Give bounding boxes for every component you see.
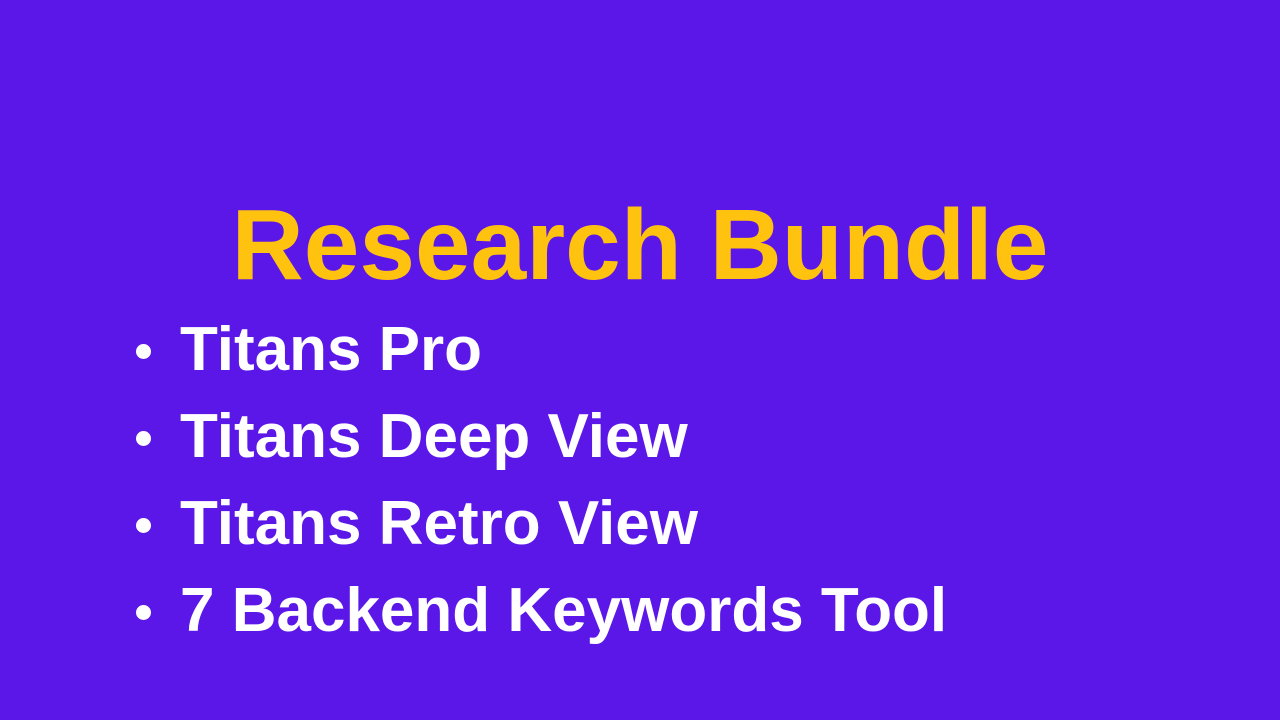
list-item: Titans Pro	[128, 306, 1240, 393]
list-item: Titans Retro View	[128, 480, 1240, 567]
list-item-label: Titans Pro	[180, 319, 482, 381]
page-title: Research Bundle	[0, 195, 1280, 295]
bullet-dot-icon	[136, 605, 151, 620]
bullet-dot-icon	[136, 344, 151, 359]
list-item-label: Titans Retro View	[180, 493, 698, 555]
list-item: Titans Deep View	[128, 393, 1240, 480]
list-item-label: 7 Backend Keywords Tool	[180, 580, 947, 642]
list-item: 7 Backend Keywords Tool	[128, 567, 1240, 654]
bullet-dot-icon	[136, 518, 151, 533]
feature-list: Titans Pro Titans Deep View Titans Retro…	[128, 306, 1240, 654]
bullet-dot-icon	[136, 431, 151, 446]
list-item-label: Titans Deep View	[180, 406, 688, 468]
slide-canvas: Research Bundle Titans Pro Titans Deep V…	[0, 0, 1280, 720]
